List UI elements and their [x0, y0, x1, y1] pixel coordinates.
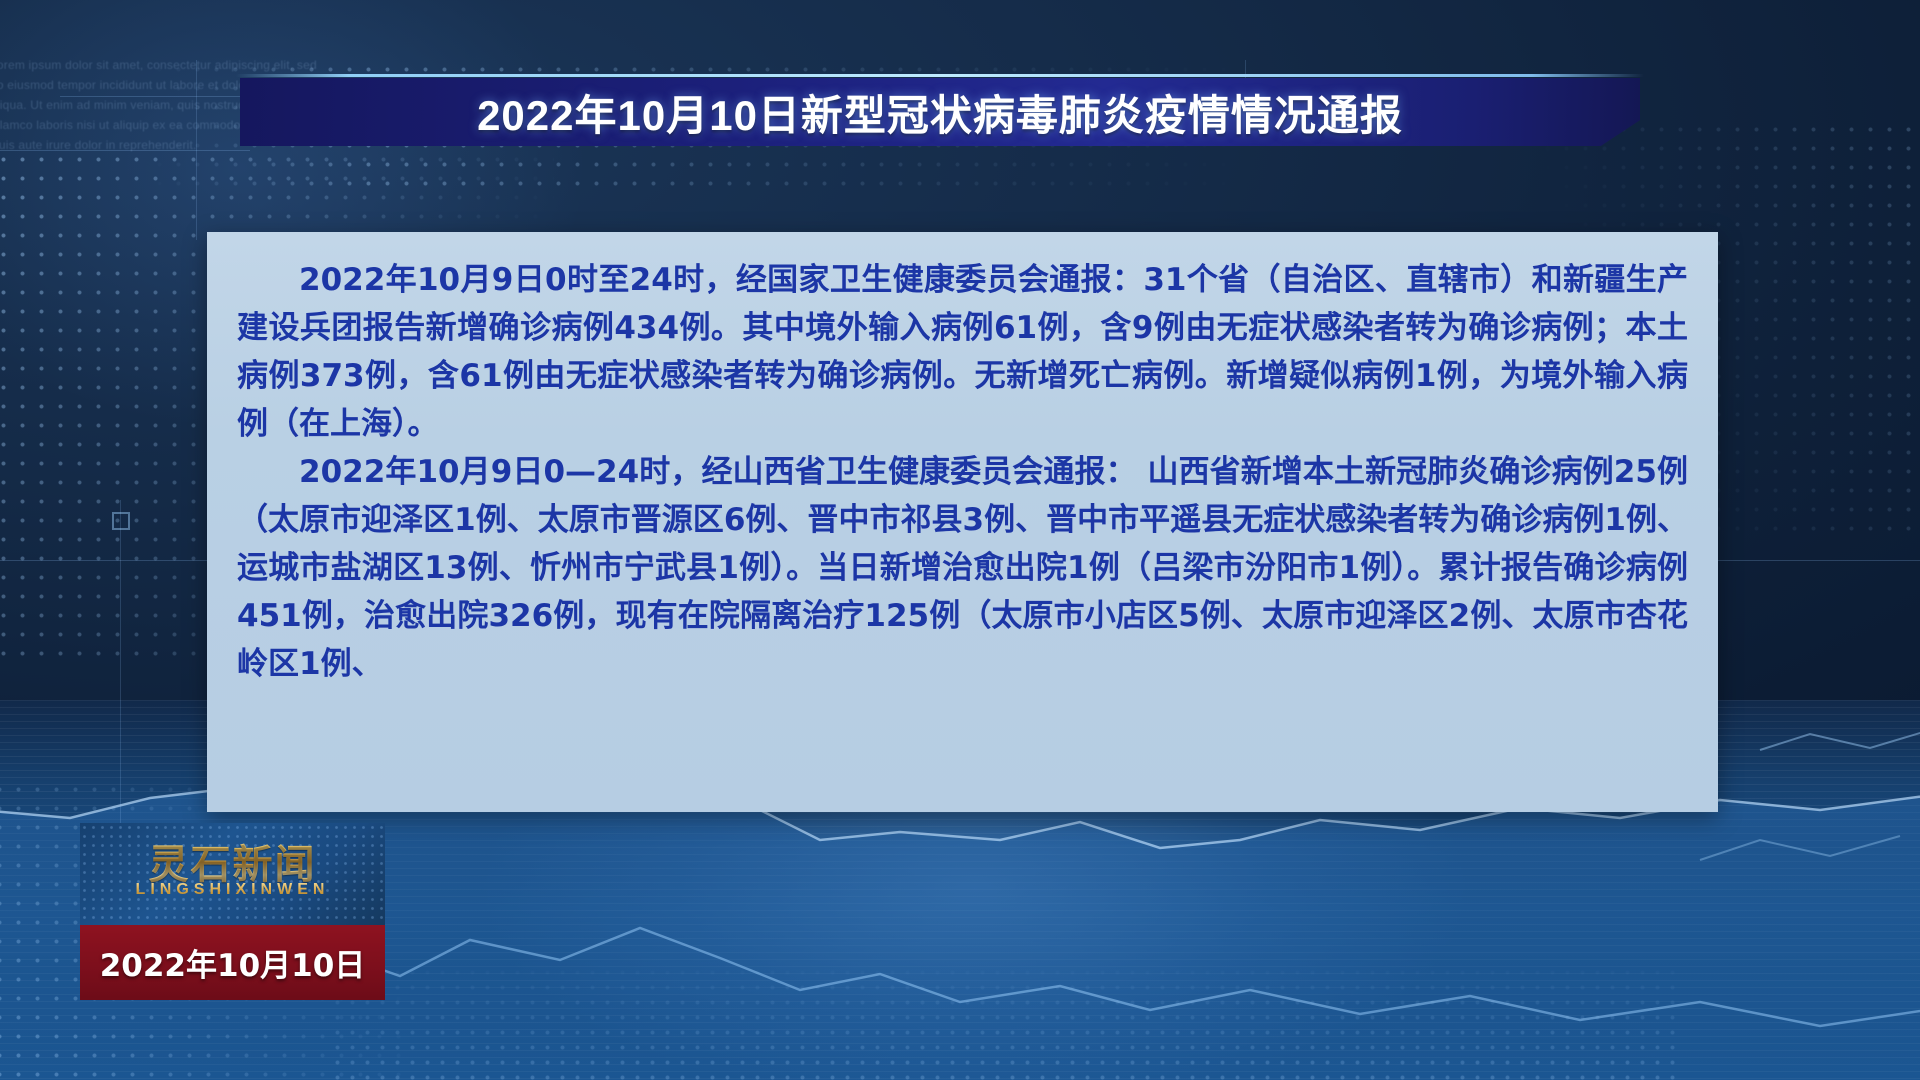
- decor-hairline-3: [0, 560, 210, 561]
- channel-logo: 灵石新闻 LINGSHIXINWEN: [80, 823, 385, 925]
- news-paragraph-2: 2022年10月9日0—24时，经山西省卫生健康委员会通报： 山西省新增本土新冠…: [237, 448, 1688, 688]
- page-title: 2022年10月10日新型冠状病毒肺炎疫情情况通报: [240, 78, 1640, 146]
- dot-matrix-bottom: [330, 950, 1680, 1080]
- title-band-accent-line: [236, 74, 1644, 77]
- decor-vline-2: [196, 60, 197, 240]
- decor-vline-1: [120, 500, 121, 840]
- decor-hairline-2: [0, 150, 250, 151]
- date-banner: 2022年10月10日: [80, 925, 385, 1000]
- broadcast-frame: Lorem ipsum dolor sit amet, consectetur …: [0, 0, 1920, 1080]
- channel-logo-name-en: LINGSHIXINWEN: [80, 881, 385, 899]
- date-banner-text: 2022年10月10日: [100, 940, 366, 985]
- decor-square: [112, 512, 130, 530]
- news-content-panel: 2022年10月9日0时至24时，经国家卫生健康委员会通报：31个省（自治区、直…: [207, 232, 1718, 812]
- news-paragraph-1: 2022年10月9日0时至24时，经国家卫生健康委员会通报：31个省（自治区、直…: [237, 256, 1688, 448]
